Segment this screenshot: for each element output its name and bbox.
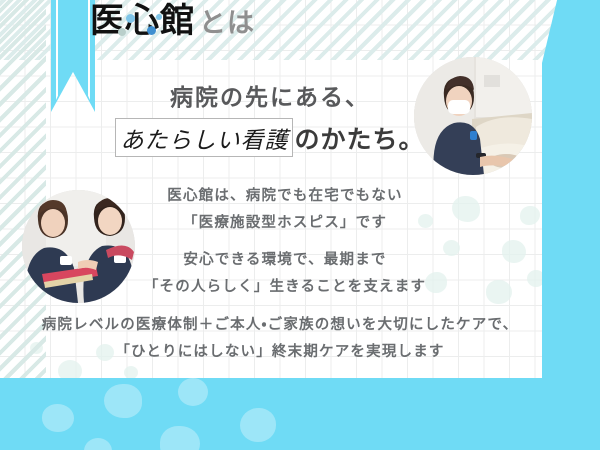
two-nurses-discussion-photo [22, 190, 135, 303]
page-title-main: 医心館 [90, 4, 195, 38]
title-dot-icon [126, 14, 135, 23]
blob-shape [452, 196, 480, 222]
blob-shape [42, 404, 74, 432]
body-paragraph-3: 病院レベルの医療体制＋ご本人・ご家族の想いを大切にしたケアで、 「ひとりにはしな… [20, 312, 540, 366]
blob-shape [104, 384, 142, 418]
headline-tail-text: のかたち。 [294, 120, 424, 156]
body-paragraph-1: 医心館は、病院でも在宅でもない 「医療施設型ホスピス」です [120, 183, 450, 237]
slide-canvas: 医心館 とは 病院の先にある、 あたらしい看護 のかたち。 医心館は、病院でも在… [0, 0, 600, 450]
paragraph-line: 病院レベルの医療体制＋ご本人・ご家族の想いを大切にしたケアで、 [20, 312, 540, 339]
paragraph-line: 「ひとりにはしない」終末期ケアを実現します [20, 339, 540, 366]
paragraph-line: 「その人らしく」生きることを支えます [120, 274, 450, 301]
blob-shape [502, 240, 526, 263]
title-dot-icon [156, 14, 162, 20]
body-paragraph-2: 安心できる環境で、最期まで 「その人らしく」生きることを支えます [120, 247, 450, 301]
blob-shape [178, 378, 208, 406]
page-title-suffix: とは [199, 10, 255, 37]
blob-shape [84, 438, 112, 450]
right-accent-band [542, 0, 600, 450]
nurse-bedside-photo [414, 57, 532, 175]
blob-shape [240, 408, 276, 442]
blob-shape [520, 206, 540, 225]
blob-shape [486, 280, 512, 304]
handwritten-highlight-box: あたらしい看護 [115, 118, 293, 157]
page-title: 医心館 とは [90, 4, 255, 38]
blob-shape [160, 426, 200, 450]
paragraph-line: 医心館は、病院でも在宅でもない [120, 183, 450, 210]
handwritten-text: あたらしい看護 [120, 128, 288, 154]
title-dot-icon [147, 26, 156, 35]
bottom-accent-band [0, 378, 600, 450]
title-dot-icon [118, 28, 126, 36]
paragraph-line: 「医療施設型ホスピス」です [120, 210, 450, 237]
paragraph-line: 安心できる環境で、最期まで [120, 247, 450, 274]
